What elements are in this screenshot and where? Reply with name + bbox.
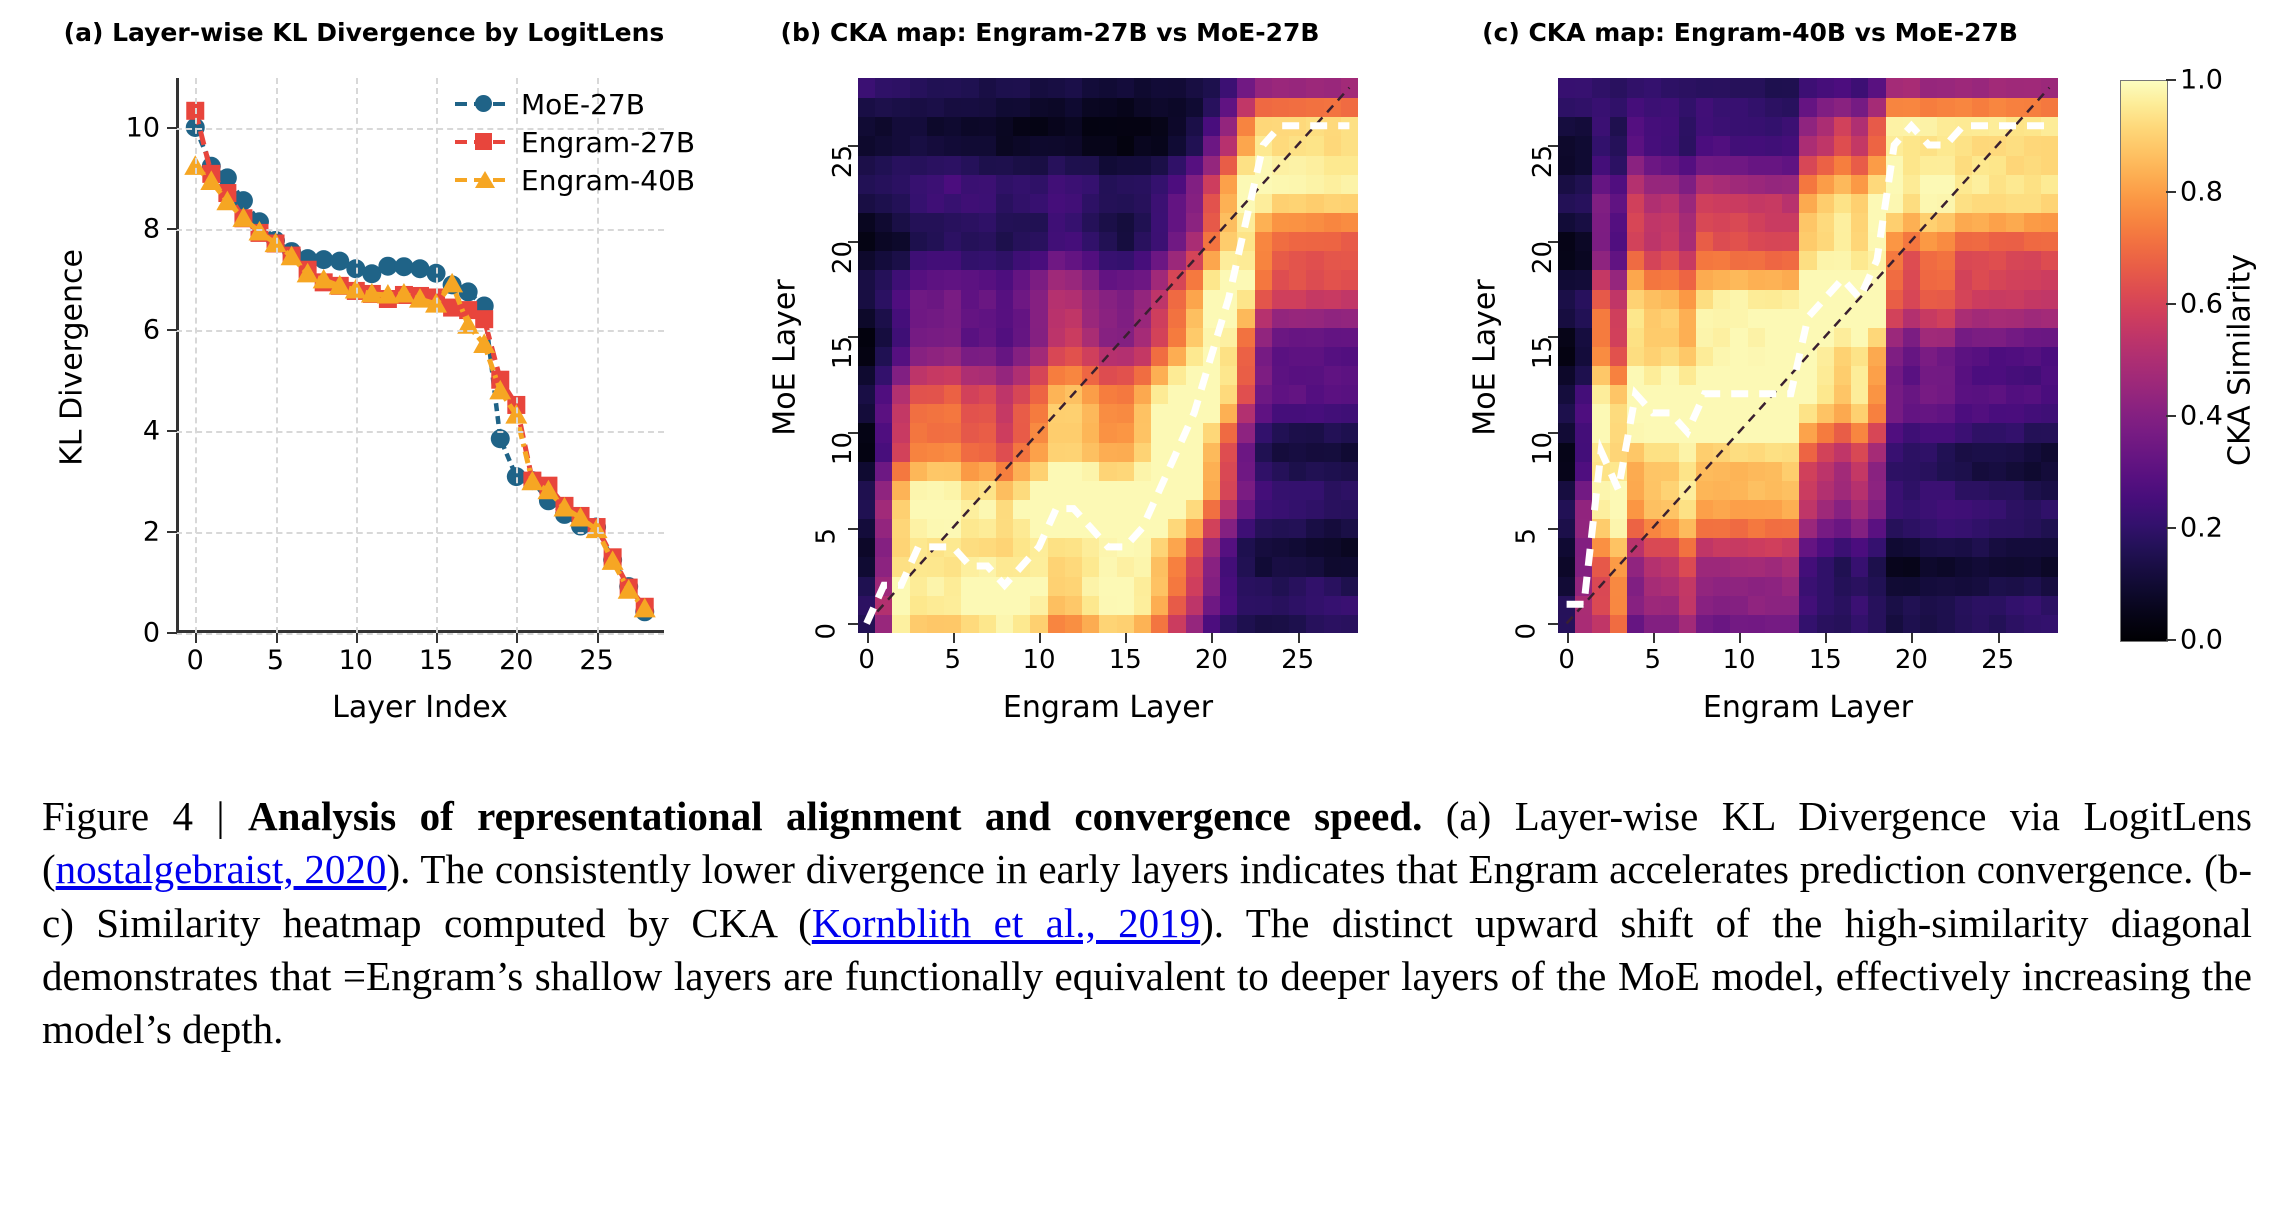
heatmap-cell [1272,595,1290,615]
heatmap-cell [1972,461,1990,481]
heatmap-cell [1765,327,1783,347]
heatmap-cell [1903,308,1921,328]
heatmap-cell [1306,461,1324,481]
heatmap-cell [1203,461,1221,481]
heatmap-cell [1306,327,1324,347]
heatmap-cell [1868,595,1886,615]
heatmap-cell [1203,174,1221,194]
heatmap-cell [1661,499,1679,519]
heatmap-cell [892,116,910,136]
heatmap-cell [996,269,1014,289]
x-tick-label: 20 [499,645,533,676]
heatmap-cell [1610,422,1628,442]
heatmap-cell [1306,269,1324,289]
heatmap-cell [1661,556,1679,576]
heatmap-cell [1851,193,1869,213]
heatmap-cell [1220,365,1238,385]
x-tick-label: 15 [1809,645,1842,675]
heatmap-cell [1817,480,1835,500]
heatmap-cell [1851,308,1869,328]
heatmap-cell [1610,576,1628,596]
heatmap-cell [1886,480,1904,500]
heatmap-cell [1203,518,1221,538]
heatmap-cell [979,537,997,557]
heatmap-cell [892,403,910,423]
heatmap-cell [979,499,997,519]
heatmap-cell [1696,499,1714,519]
heatmap-cell [1834,135,1852,155]
heatmap-cell [1937,537,1955,557]
heatmap-cell [892,614,910,633]
heatmap-cell [1575,155,1593,175]
heatmap-cell [1151,327,1169,347]
heatmap-cell [1972,442,1990,462]
heatmap-cell [2006,327,2024,347]
heatmap-cell [979,231,997,251]
heatmap-cell [1851,384,1869,404]
panel-c-y-axis-title: MoE Layer [1468,228,1503,488]
heatmap-cell [996,461,1014,481]
heatmap-cell [1237,346,1255,366]
heatmap-cell [1117,480,1135,500]
heatmap-cell [892,308,910,328]
heatmap-cell [1592,480,1610,500]
heatmap-cell [910,537,928,557]
heatmap-cell [1220,384,1238,404]
heatmap-cell [1748,289,1766,309]
heatmap-cell [1903,135,1921,155]
heatmap-cell [1237,193,1255,213]
heatmap-cell [1134,212,1152,232]
heatmap-cell [1868,556,1886,576]
heatmap-cell [1048,174,1066,194]
heatmap-cell [1048,461,1066,481]
y-tick-label: 4 [90,416,160,447]
heatmap-cell [1186,135,1204,155]
heatmap-cell [1644,327,1662,347]
heatmap-cell [1886,116,1904,136]
heatmap-cell [1713,442,1731,462]
heatmap-cell [2006,308,2024,328]
heatmap-cell [927,346,945,366]
heatmap-cell [927,556,945,576]
heatmap-cell [1099,614,1117,633]
heatmap-cell [1886,442,1904,462]
heatmap-cell [1903,595,1921,615]
heatmap-cell [875,537,893,557]
heatmap-cell [1289,155,1307,175]
heatmap-cell [1782,346,1800,366]
heatmap-cell [1237,576,1255,596]
heatmap-cell [1782,250,1800,270]
heatmap-cell [1306,422,1324,442]
heatmap-cell [1748,193,1766,213]
heatmap-cell [1151,499,1169,519]
heatmap-cell [1013,97,1031,117]
heatmap-cell [1341,289,1358,309]
heatmap-cell [1627,556,1645,576]
heatmap-cell [996,480,1014,500]
heatmap-cell [1013,308,1031,328]
heatmap-cell [1306,576,1324,596]
heatmap-cell [1592,499,1610,519]
heatmap-cell [2041,269,2058,289]
heatmap-cell [1134,461,1152,481]
heatmap-cell [1168,595,1186,615]
heatmap-cell [2006,595,2024,615]
heatmap-cell [858,78,876,98]
heatmap-cell [1099,174,1117,194]
heatmap-cell [1289,403,1307,423]
heatmap-cell [1558,78,1576,98]
heatmap-cell [1030,499,1048,519]
heatmap-cell [1834,422,1852,442]
heatmap-cell [1082,231,1100,251]
heatmap-cell [996,327,1014,347]
heatmap-cell [1886,403,1904,423]
heatmap-cell [1886,289,1904,309]
heatmap-cell [1013,193,1031,213]
heatmap-cell [1644,193,1662,213]
heatmap-cell [1730,518,1748,538]
heatmap-cell [1782,403,1800,423]
heatmap-cell [1696,135,1714,155]
legend-item-moe-27b[interactable]: MoE-27B [455,85,685,123]
heatmap-cell [2006,135,2024,155]
panel-b-heatmap: (b) CKA map: Engram-27B vs MoE-27B 05101… [700,0,1400,760]
heatmap-cell [1203,308,1221,328]
heatmap-cell [1272,480,1290,500]
heatmap-cell [1289,480,1307,500]
heatmap-cell [1065,461,1083,481]
heatmap-cell [2024,135,2042,155]
heatmap-cell [1989,595,2007,615]
heatmap-cell [1817,346,1835,366]
heatmap-cell [1030,384,1048,404]
heatmap-cell [1117,499,1135,519]
heatmap-cell [2041,155,2058,175]
gridline-vertical [195,78,197,633]
x-tick-label: 25 [1281,645,1314,675]
heatmap-cell [1817,155,1835,175]
heatmap-cell [1592,384,1610,404]
heatmap-cell [1713,308,1731,328]
heatmap-cell [1851,116,1869,136]
heatmap-cell [1730,595,1748,615]
heatmap-cell [1765,250,1783,270]
heatmap-cell [1730,442,1748,462]
heatmap-cell [1324,365,1342,385]
heatmap-cell [1972,212,1990,232]
heatmap-cell [1134,518,1152,538]
heatmap-cell [1099,576,1117,596]
heatmap-cell [1099,422,1117,442]
heatmap-cell [1220,461,1238,481]
heatmap-cell [1030,116,1048,136]
heatmap-cell [1972,537,1990,557]
heatmap-cell [1955,212,1973,232]
heatmap-cell [961,250,979,270]
heatmap-cell [1255,135,1273,155]
heatmap-cell [1272,518,1290,538]
heatmap-cell [1679,595,1697,615]
heatmap-cell [1989,116,2007,136]
panel-a-x-axis-title: Layer Index [176,690,664,725]
panel-c-x-axis-title: Engram Layer [1558,690,2058,725]
heatmap-cell [1048,499,1066,519]
heatmap-cell [1186,78,1204,98]
heatmap-cell [910,250,928,270]
heatmap-cell [1748,537,1766,557]
heatmap-cell [1341,537,1358,557]
heatmap-cell [875,97,893,117]
heatmap-cell [1013,135,1031,155]
heatmap-cell [1782,212,1800,232]
heatmap-cell [1048,289,1066,309]
heatmap-cell [1306,174,1324,194]
heatmap-cell [944,461,962,481]
heatmap-cell [1955,442,1973,462]
heatmap-cell [1661,212,1679,232]
legend-marker-square-icon [475,133,492,150]
heatmap-cell [1575,595,1593,615]
heatmap-cell [910,576,928,596]
legend-swatch-circle-icon [455,93,511,115]
heatmap-cell [1341,442,1358,462]
heatmap-cell [927,518,945,538]
heatmap-cell [1186,537,1204,557]
heatmap-cell [1834,384,1852,404]
heatmap-cell [1030,518,1048,538]
heatmap-cell [1592,346,1610,366]
heatmap-cell [1237,250,1255,270]
heatmap-cell [1237,155,1255,175]
colorbar-tick-label: 1.0 [2180,65,2223,96]
heatmap-cell [1799,97,1817,117]
heatmap-cell [1575,384,1593,404]
heatmap-cell [1272,231,1290,251]
heatmap-cell [1937,212,1955,232]
heatmap-cell [2024,518,2042,538]
heatmap-cell [2006,97,2024,117]
heatmap-cell [1730,174,1748,194]
heatmap-cell [1886,461,1904,481]
heatmap-cell [1030,480,1048,500]
heatmap-cell [1955,346,1973,366]
y-tick-mark [1548,241,1558,243]
heatmap-cell [1099,442,1117,462]
heatmap-cell [858,308,876,328]
heatmap-cell [1082,289,1100,309]
heatmap-cell [1341,193,1358,213]
heatmap-cell [1013,461,1031,481]
y-tick-label: 8 [90,214,160,245]
heatmap-cell [961,174,979,194]
legend-item-engram-27b[interactable]: Engram-27B [455,123,685,161]
heatmap-cell [1558,384,1576,404]
legend-item-engram-40b[interactable]: Engram-40B [455,161,685,199]
heatmap-cell [1765,365,1783,385]
heatmap-cell [1306,518,1324,538]
heatmap-cell [1220,518,1238,538]
heatmap-cell [1748,250,1766,270]
heatmap-cell [1030,595,1048,615]
heatmap-cell [1765,116,1783,136]
heatmap-cell [1255,499,1273,519]
heatmap-cell [1168,193,1186,213]
heatmap-cell [961,403,979,423]
heatmap-cell [1730,537,1748,557]
heatmap-cell [2024,384,2042,404]
legend-label: MoE-27B [521,88,645,121]
heatmap-cell [1151,231,1169,251]
heatmap-cell [1558,403,1576,423]
heatmap-cell [910,327,928,347]
heatmap-cell [1868,537,1886,557]
heatmap-cell [1341,135,1358,155]
heatmap-cell [1661,384,1679,404]
heatmap-cell [1696,155,1714,175]
heatmap-cell [1289,442,1307,462]
heatmap-cell [2041,403,2058,423]
heatmap-cell [1048,97,1066,117]
heatmap-cell [2041,212,2058,232]
heatmap-cell [1679,442,1697,462]
heatmap-cell [1151,518,1169,538]
heatmap-cell [1661,576,1679,596]
heatmap-cell [1989,155,2007,175]
heatmap-cell [892,556,910,576]
heatmap-cell [1117,327,1135,347]
heatmap-cell [1220,193,1238,213]
heatmap-cell [1903,155,1921,175]
heatmap-cell [1644,231,1662,251]
heatmap-cell [1730,135,1748,155]
heatmap-cell [875,346,893,366]
heatmap-cell [1168,97,1186,117]
heatmap-cell [996,174,1014,194]
heatmap-cell [1065,346,1083,366]
heatmap-cell [1627,174,1645,194]
heatmap-cell [1610,518,1628,538]
heatmap-cell [1117,78,1135,98]
heatmap-cell [1220,422,1238,442]
heatmap-cell [1696,403,1714,423]
heatmap-cell [1817,308,1835,328]
heatmap-cell [1661,442,1679,462]
heatmap-cell [944,384,962,404]
heatmap-cell [1903,116,1921,136]
heatmap-cell [1289,231,1307,251]
heatmap-cell [996,155,1014,175]
heatmap-cell [1117,289,1135,309]
heatmap-cell [1030,576,1048,596]
heatmap-cell [996,212,1014,232]
heatmap-cell [1627,537,1645,557]
heatmap-cell [961,193,979,213]
heatmap-cell [1151,155,1169,175]
heatmap-cell [1937,595,1955,615]
heatmap-cell [1817,231,1835,251]
heatmap-cell [927,212,945,232]
heatmap-cell [1627,614,1645,633]
heatmap-cell [1730,480,1748,500]
heatmap-cell [1644,116,1662,136]
heatmap-cell [1272,365,1290,385]
heatmap-cell [1903,576,1921,596]
heatmap-cell [1799,269,1817,289]
heatmap-cell [1851,537,1869,557]
heatmap-cell [1610,442,1628,462]
heatmap-cell [1644,97,1662,117]
heatmap-cell [1117,269,1135,289]
heatmap-cell [1765,576,1783,596]
heatmap-cell [1151,576,1169,596]
citation-link-nostalgebraist[interactable]: nostalgebraist, 2020 [56,846,387,892]
heatmap-cell [927,308,945,328]
heatmap-cell [1696,461,1714,481]
x-tick-label: 5 [267,645,284,676]
heatmap-cell [1799,422,1817,442]
heatmap-cell [1730,250,1748,270]
heatmap-cell [892,212,910,232]
heatmap-cell [1679,365,1697,385]
heatmap-cell [1082,403,1100,423]
heatmap-cell [1272,442,1290,462]
heatmap-cell [1048,614,1066,633]
colorbar-tick-mark [2166,79,2176,81]
heatmap-cell [2041,384,2058,404]
heatmap-cell [1237,422,1255,442]
heatmap-cell [1272,403,1290,423]
heatmap-cell [1220,250,1238,270]
citation-link-kornblith[interactable]: Kornblith et al., 2019 [812,900,1200,946]
heatmap-cell [1306,403,1324,423]
y-tick-mark [167,329,177,331]
heatmap-cell [1099,269,1117,289]
heatmap-cell [1627,403,1645,423]
heatmap-cell [1817,422,1835,442]
heatmap-cell [1134,116,1152,136]
heatmap-cell [1955,518,1973,538]
heatmap-cell [944,327,962,347]
heatmap-cell [2006,556,2024,576]
heatmap-cell [1099,327,1117,347]
heatmap-cell [2006,116,2024,136]
heatmap-cell [1168,537,1186,557]
heatmap-cell [1592,537,1610,557]
heatmap-cell [1817,461,1835,481]
heatmap-cell [1272,193,1290,213]
heatmap-cell [1782,365,1800,385]
heatmap-cell [1679,556,1697,576]
heatmap-cell [1082,212,1100,232]
heatmap-cell [1696,556,1714,576]
heatmap-cell [1610,250,1628,270]
heatmap-cell [1186,365,1204,385]
heatmap-cell [1834,289,1852,309]
y-tick-label: 20 [1528,241,1558,274]
heatmap-cell [1013,212,1031,232]
heatmap-cell [1168,212,1186,232]
heatmap-cell [1272,384,1290,404]
heatmap-cell [1151,595,1169,615]
heatmap-cell [875,365,893,385]
heatmap-cell [1255,518,1273,538]
heatmap-cell [1134,78,1152,98]
y-tick-label: 10 [90,113,160,144]
heatmap-cell [910,155,928,175]
